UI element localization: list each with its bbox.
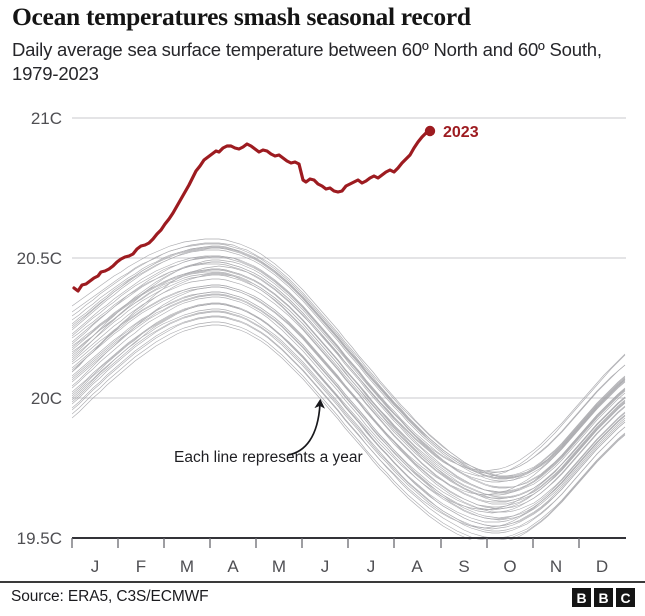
bbc-logo-block-3: C [616,588,635,607]
x-tick-label-jan: J [91,557,100,576]
x-tick-label-jun: J [321,557,330,576]
series-label-2023: 2023 [443,124,479,141]
x-tick-label-aug: A [411,557,423,576]
chart-figure: Ocean temperatures smash seasonal record… [0,0,645,616]
line-chart-canvas: 21C 20.5C 20C 19.5C [0,0,645,616]
x-tick-label-dec: D [596,557,608,576]
annotation-each-line-represents-a-year: Each line represents a year [174,404,363,466]
series-line-2023: 2023 [74,124,479,291]
x-tick-label-may: M [272,557,286,576]
x-tick-label-sep: S [458,557,469,576]
y-tick-label-20c: 20C [31,389,62,408]
series-endpoint-marker-2023 [425,126,435,136]
x-tick-label-jul: J [367,557,376,576]
x-tick-label-mar: M [180,557,194,576]
x-axis: J F M A M J J A S O N D [72,538,626,576]
annotation-label: Each line represents a year [174,449,363,466]
background-year-lines [72,239,625,543]
y-tick-label-20-5c: 20.5C [17,249,62,268]
bbc-logo-block-2: B [594,588,613,607]
source-note: Source: ERA5, C3S/ECMWF [11,588,209,606]
y-tick-label-19-5c: 19.5C [17,529,62,548]
x-tick-label-oct: O [503,557,516,576]
x-tick-label-nov: N [550,557,562,576]
x-tick-label-feb: F [136,557,146,576]
bbc-logo: B B C [572,588,635,607]
bbc-logo-block-1: B [572,588,591,607]
y-tick-label-21c: 21C [31,109,62,128]
footer-divider [0,581,645,583]
gridlines [72,118,626,398]
x-tick-label-apr: A [227,557,239,576]
y-axis: 21C 20.5C 20C 19.5C [17,109,62,548]
